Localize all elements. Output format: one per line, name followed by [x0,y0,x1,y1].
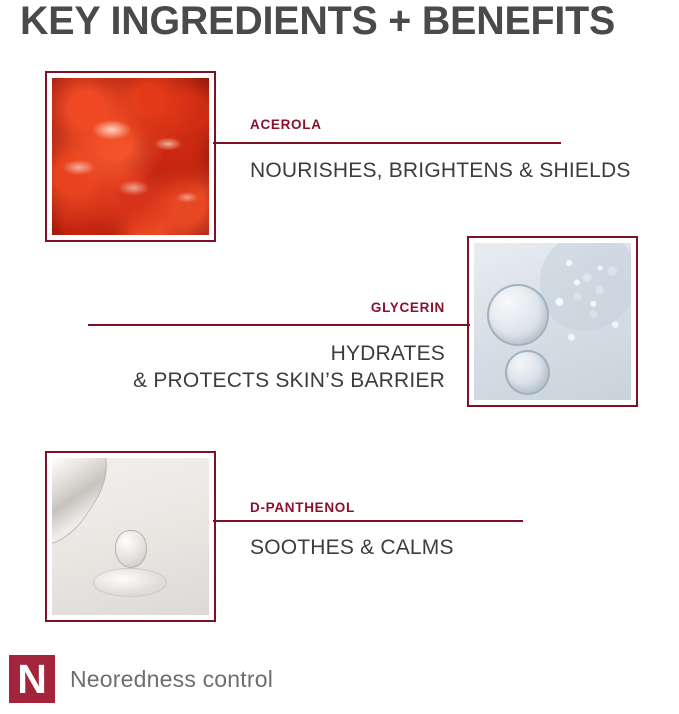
liquid-droplet [115,530,147,568]
ingredient-name-acerola: ACEROLA [250,117,322,132]
bubble-large [487,284,549,346]
ingredient-benefit-panthenol: SOOTHES & CALMS [250,534,650,561]
foam-bubbles-cluster [540,243,631,331]
brand-logo-mark: N [9,655,55,703]
ingredient-benefit-acerola: NOURISHES, BRIGHTENS & SHIELDS [250,157,650,184]
glycerin-bubbles-image [474,243,631,400]
connector-line-acerola [213,142,561,144]
acerola-cherries-image [52,78,209,235]
ingredient-photo-glycerin [467,236,638,407]
liquid-puddle [93,568,167,597]
ingredient-photo-panthenol [45,451,216,622]
ingredient-benefit-glycerin: HYDRATES & PROTECTS SKIN’S BARRIER [85,340,445,394]
dropper-droplet-image [52,458,209,615]
page-title: KEY INGREDIENTS + BENEFITS [20,0,655,44]
ingredient-photo-acerola [45,71,216,242]
connector-line-glycerin [88,324,470,326]
bubble-small [505,350,550,395]
ingredient-name-panthenol: D-PANTHENOL [250,500,355,515]
connector-line-panthenol [213,520,523,522]
brand-name-label: Neoredness control [70,666,273,693]
ingredient-name-glycerin: GLYCERIN [145,300,445,315]
glass-pipette [52,458,124,559]
